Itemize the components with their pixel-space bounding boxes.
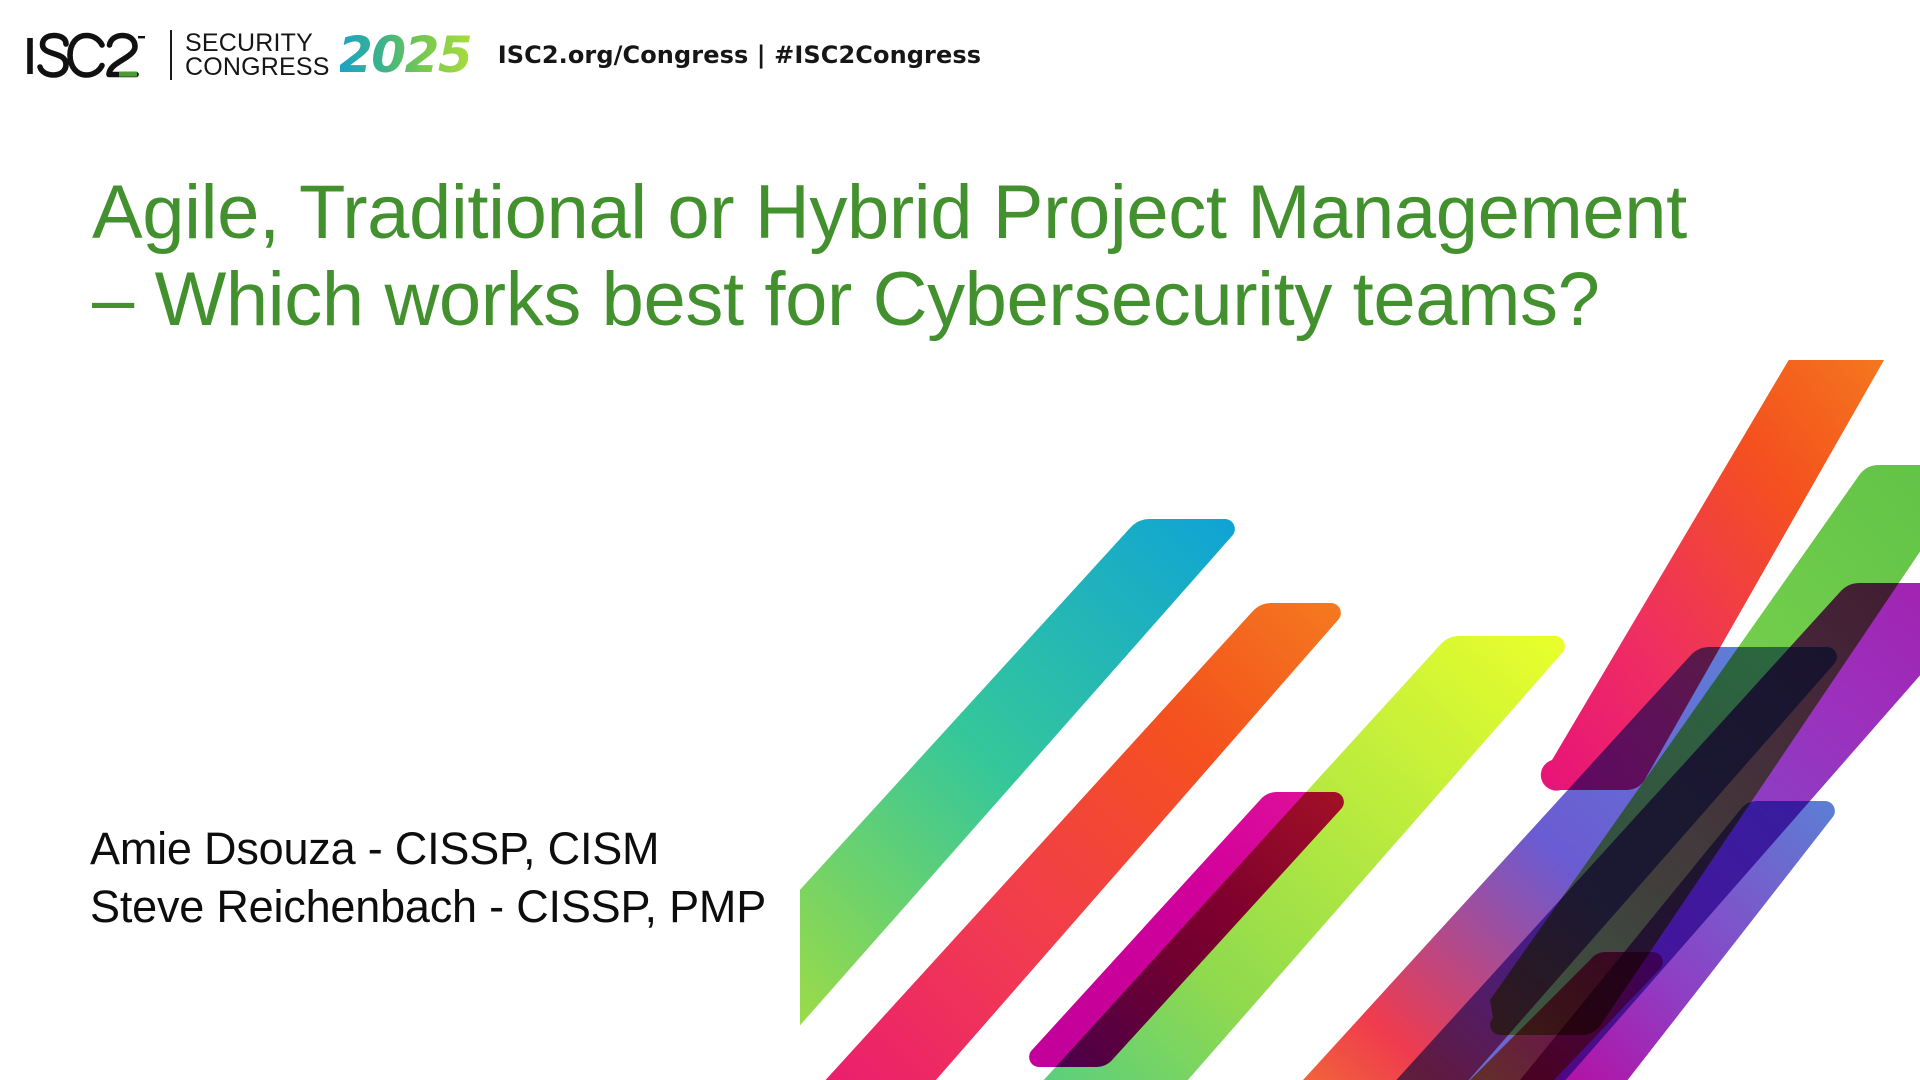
brand-line-congress: CONGRESS <box>185 55 330 80</box>
security-congress-text: SECURITY CONGRESS <box>185 31 330 80</box>
title-block: Agile, Traditional or Hybrid Project Man… <box>92 170 1712 343</box>
logo-divider <box>170 30 172 80</box>
year-2025-logo: 2025 <box>340 27 472 83</box>
isc2-congress-logo-lockup: SECURITY CONGRESS 2025 <box>26 24 472 86</box>
ribbon-pink-orange-top <box>1541 360 1903 791</box>
ribbon-teal-green <box>800 519 1235 1080</box>
slide-header: SECURITY CONGRESS 2025 <box>26 24 981 86</box>
ribbon-yellow-orange <box>1359 952 1663 1080</box>
ribbon-green <box>1490 465 1920 1035</box>
ribbon-purple <box>1357 583 1920 1080</box>
decorative-ribbon-graphic <box>800 360 1920 1080</box>
congress-url-hashtag: ISC2.org/Congress | #ISC2Congress <box>498 41 981 69</box>
svg-text:2025: 2025 <box>340 27 471 83</box>
presenter-list: Amie Dsouza - CISSP, CISM Steve Reichenb… <box>90 820 1190 935</box>
ribbon-violet-block <box>1517 801 1835 1080</box>
presenter-name-1: Amie Dsouza - CISSP, CISM <box>90 820 1190 878</box>
isc2-wordmark-logo <box>26 29 158 81</box>
brand-line-security: SECURITY <box>185 31 330 56</box>
ribbon-blue-purple <box>1227 647 1837 1080</box>
presentation-slide: SECURITY CONGRESS 2025 <box>0 0 1920 1080</box>
page-title: Agile, Traditional or Hybrid Project Man… <box>92 170 1712 343</box>
presenter-name-2: Steve Reichenbach - CISSP, PMP <box>90 878 1190 936</box>
